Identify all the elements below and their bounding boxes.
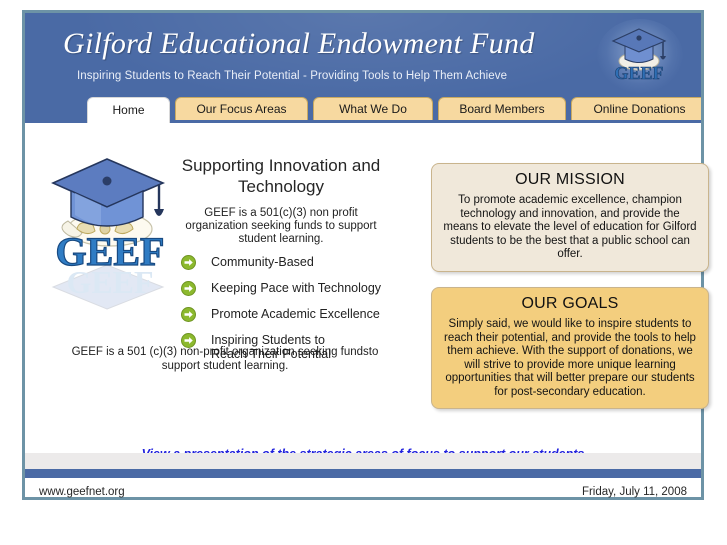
- graduation-cap-diploma-icon: GEEF GEEF: [35, 141, 185, 316]
- list-item-label: Keeping Pace with Technology: [211, 281, 381, 295]
- content-subline: GEEF is a 501(c)(3) non profit organizat…: [173, 207, 389, 246]
- site-tagline: Inspiring Students to Reach Their Potent…: [77, 70, 507, 82]
- svg-text:GEEF: GEEF: [614, 63, 663, 83]
- tab-online-donations[interactable]: Online Donations: [571, 97, 701, 120]
- goals-panel: OUR GOALS Simply said, we would like to …: [431, 287, 709, 409]
- green-arrow-bullet-icon: [181, 307, 196, 322]
- footer-website[interactable]: www.geefnet.org: [39, 486, 125, 498]
- list-item-label: Promote Academic Excellence: [211, 307, 380, 321]
- header-geef-logo: GEEF: [597, 19, 683, 93]
- list-item: Promote Academic Excellence: [181, 307, 421, 323]
- mission-panel: OUR MISSION To promote academic excellen…: [431, 163, 709, 272]
- tab-our-focus-areas[interactable]: Our Focus Areas: [175, 97, 308, 120]
- slide-canvas: Gilford Educational Endowment Fund Inspi…: [22, 10, 704, 500]
- footer-accent-bar: [25, 469, 701, 478]
- goals-panel-body: Simply said, we would like to inspire st…: [442, 318, 698, 399]
- list-item: Community-Based: [181, 255, 421, 271]
- nonprofit-footnote: GEEF is a 501 (c)(3) non-profit organiza…: [55, 345, 395, 373]
- site-header: Gilford Educational Endowment Fund Inspi…: [25, 13, 701, 123]
- tab-what-we-do[interactable]: What We Do: [313, 97, 433, 120]
- list-item: Keeping Pace with Technology: [181, 281, 421, 297]
- content-headline: Supporting Innovation and Technology: [165, 155, 397, 197]
- mission-panel-title: OUR MISSION: [442, 171, 698, 189]
- main-content: GEEF GEEF Supporting Innovation and Tech…: [25, 123, 701, 445]
- site-title: Gilford Educational Endowment Fund: [63, 27, 535, 61]
- footer-date: Friday, July 11, 2008: [582, 486, 687, 498]
- mission-panel-body: To promote academic excellence, champion…: [442, 194, 698, 262]
- site-footer: www.geefnet.org Friday, July 11, 2008: [25, 478, 701, 497]
- graduation-cap-diploma-icon: GEEF: [605, 21, 675, 91]
- green-arrow-bullet-icon: [181, 281, 196, 296]
- separator-band: [25, 453, 701, 469]
- main-navigation: Home Our Focus Areas What We Do Board Me…: [25, 97, 701, 123]
- tab-home[interactable]: Home: [87, 97, 170, 123]
- green-arrow-bullet-icon: [181, 255, 196, 270]
- goals-panel-title: OUR GOALS: [442, 295, 698, 313]
- tab-board-members[interactable]: Board Members: [438, 97, 566, 120]
- svg-text:GEEF: GEEF: [66, 264, 153, 300]
- geef-logo-artwork: GEEF GEEF: [35, 141, 185, 316]
- list-item-label: Community-Based: [211, 255, 314, 269]
